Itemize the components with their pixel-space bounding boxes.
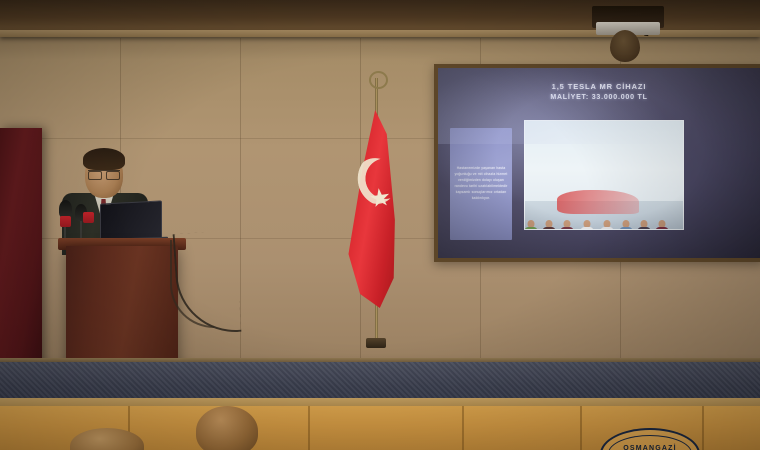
hall-emblem-label: OSMANGAZİ [602, 445, 698, 450]
photo-person-body [601, 227, 614, 230]
flag-pole-finial [369, 71, 388, 89]
slide-sidebar-text: Hastanemizde yaşanan hasta yoğunluğu ve … [450, 166, 512, 202]
stage-panel-seam [580, 406, 582, 450]
photo-person-body [561, 227, 574, 230]
photo-person-body [620, 227, 633, 230]
microphone-logo-flag [60, 216, 71, 227]
microphone-logo-flag [83, 212, 94, 223]
projector-housing [610, 30, 640, 62]
slide-group-photo [524, 120, 684, 230]
photo-flag-drape [557, 190, 639, 214]
speaker-hair [83, 148, 125, 170]
flag-pole-base [366, 338, 386, 348]
stage-panel-seam [308, 406, 310, 450]
photo-person-body [525, 227, 538, 230]
podium: OGÜ [66, 246, 178, 372]
speaker-glasses [88, 170, 120, 178]
projection-screen: 1,5 TESLA MR CİHAZI MALİYET: 33.000.000 … [438, 68, 760, 258]
photo-person-body [656, 227, 669, 230]
slide-sidebar-textbox: Hastanemizde yaşanan hasta yoğunluğu ve … [450, 128, 512, 240]
slide-title: 1,5 TESLA MR CİHAZI [438, 82, 760, 93]
audience-head [196, 406, 258, 450]
side-curtain [0, 128, 42, 372]
photo-person-body [581, 227, 594, 230]
presentation-hall-photo: 1,5 TESLA MR CİHAZI MALİYET: 33.000.000 … [0, 0, 760, 450]
stage-panel-seam [702, 406, 704, 450]
photo-person-body [543, 227, 556, 230]
stage-panel-seam [462, 406, 464, 450]
slide-subtitle: MALİYET: 33.000.000 TL [438, 94, 760, 101]
photo-person-body [638, 227, 651, 230]
